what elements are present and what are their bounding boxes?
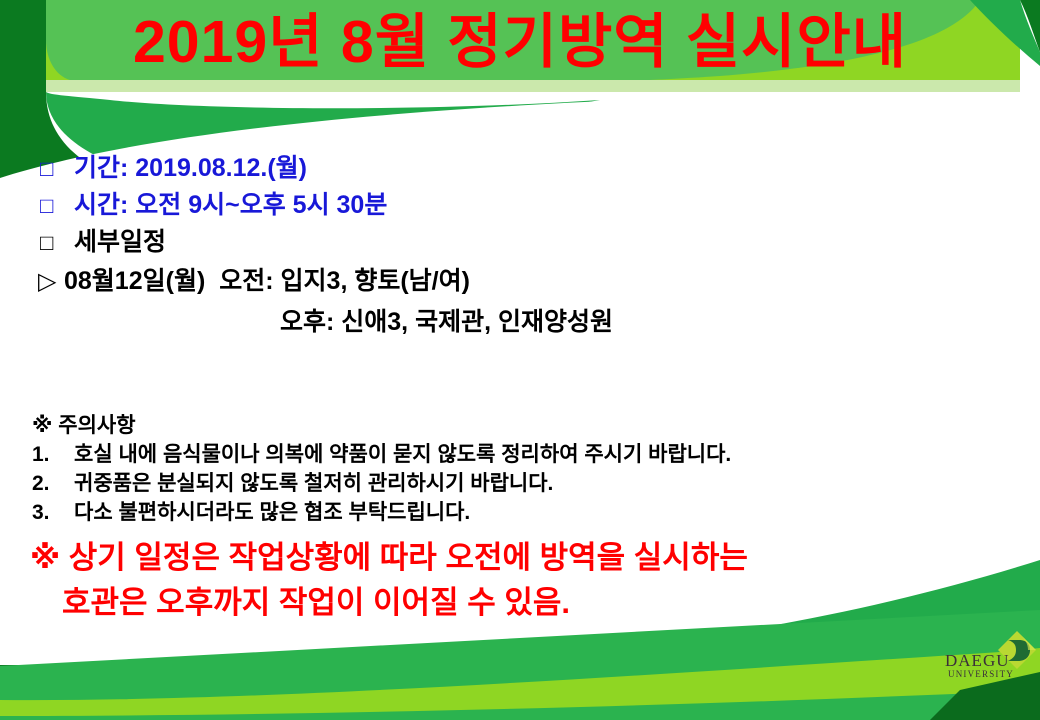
schedule-detail-am: ▷ 08월12일(월) 오전: 입지3, 향토(남/여) [38,261,1040,302]
warning-note: ※ 상기 일정은 작업상황에 따라 오전에 방역을 실시하는 호관은 오후까지 … [0,535,1040,625]
bottom-bright-wedge [0,648,1040,716]
bottom-deep-green-band [0,665,1040,720]
info-item-schedule: □ 세부일정 [0,224,1040,261]
caution-item: 1. 호실 내에 음식물이나 의복에 약품이 묻지 않도록 정리하여 주시기 바… [32,440,1040,469]
schedule-detail-pm-text: 오후: 신애3, 국제관, 인재양성원 [280,302,1040,342]
info-item-period: □ 기간: 2019.08.12.(월) [0,150,1040,187]
cautions-heading: ※ 주의사항 [32,412,1040,440]
cautions-section: ※ 주의사항 1. 호실 내에 음식물이나 의복에 약품이 묻지 않도록 정리하… [0,412,1040,527]
announcement-slide: 2019년 8월 정기방역 실시안내 □ 기간: 2019.08.12.(월) … [0,0,1040,720]
caution-text: 호실 내에 음식물이나 의복에 약품이 묻지 않도록 정리하여 주시기 바랍니다… [74,440,731,469]
triangle-bullet-icon: ▷ [38,262,64,302]
logo-wordmark: DAEGU UNIVERSITY [945,652,1019,680]
square-bullet-icon: □ [40,188,74,224]
caution-number: 3. [32,498,74,527]
caution-item: 2. 귀중품은 분실되지 않도록 철저히 관리하시기 바랍니다. [32,469,1040,498]
caution-text: 귀중품은 분실되지 않도록 철저히 관리하시기 바랍니다. [74,469,553,498]
caution-text: 다소 불편하시더라도 많은 협조 부탁드립니다. [74,498,470,527]
bottom-mid-band [0,610,1040,720]
page-title: 2019년 8월 정기방역 실시안내 [0,6,1040,78]
info-item-schedule-text: 세부일정 [74,224,166,260]
info-item-time-text: 시간: 오전 9시~오후 5시 30분 [74,187,387,223]
caution-number: 2. [32,469,74,498]
square-bullet-icon: □ [40,151,74,187]
info-item-period-text: 기간: 2019.08.12.(월) [74,150,307,186]
caution-number: 1. [32,440,74,469]
warning-line-2: 호관은 오후까지 작업이 이어질 수 있음. [62,580,1040,625]
logo-name-text: DAEGU [945,652,1019,669]
warning-line-1: ※ 상기 일정은 작업상황에 따라 오전에 방역을 실시하는 [30,535,1040,580]
daegu-university-logo: DAEGU UNIVERSITY [945,630,1037,692]
info-item-time: □ 시간: 오전 9시~오후 5시 30분 [0,187,1040,224]
schedule-detail-am-text: 오전: 입지3, 향토(남/여) [219,261,470,301]
schedule-detail-date: 08월12일(월) [64,261,205,301]
info-section: □ 기간: 2019.08.12.(월) □ 시간: 오전 9시~오후 5시 3… [0,150,1040,342]
square-bullet-icon: □ [40,225,74,261]
caution-item: 3. 다소 불편하시더라도 많은 협조 부탁드립니다. [32,498,1040,527]
logo-sub-text: UNIVERSITY [948,669,1019,680]
title-banner: 2019년 8월 정기방역 실시안내 [0,0,1040,92]
